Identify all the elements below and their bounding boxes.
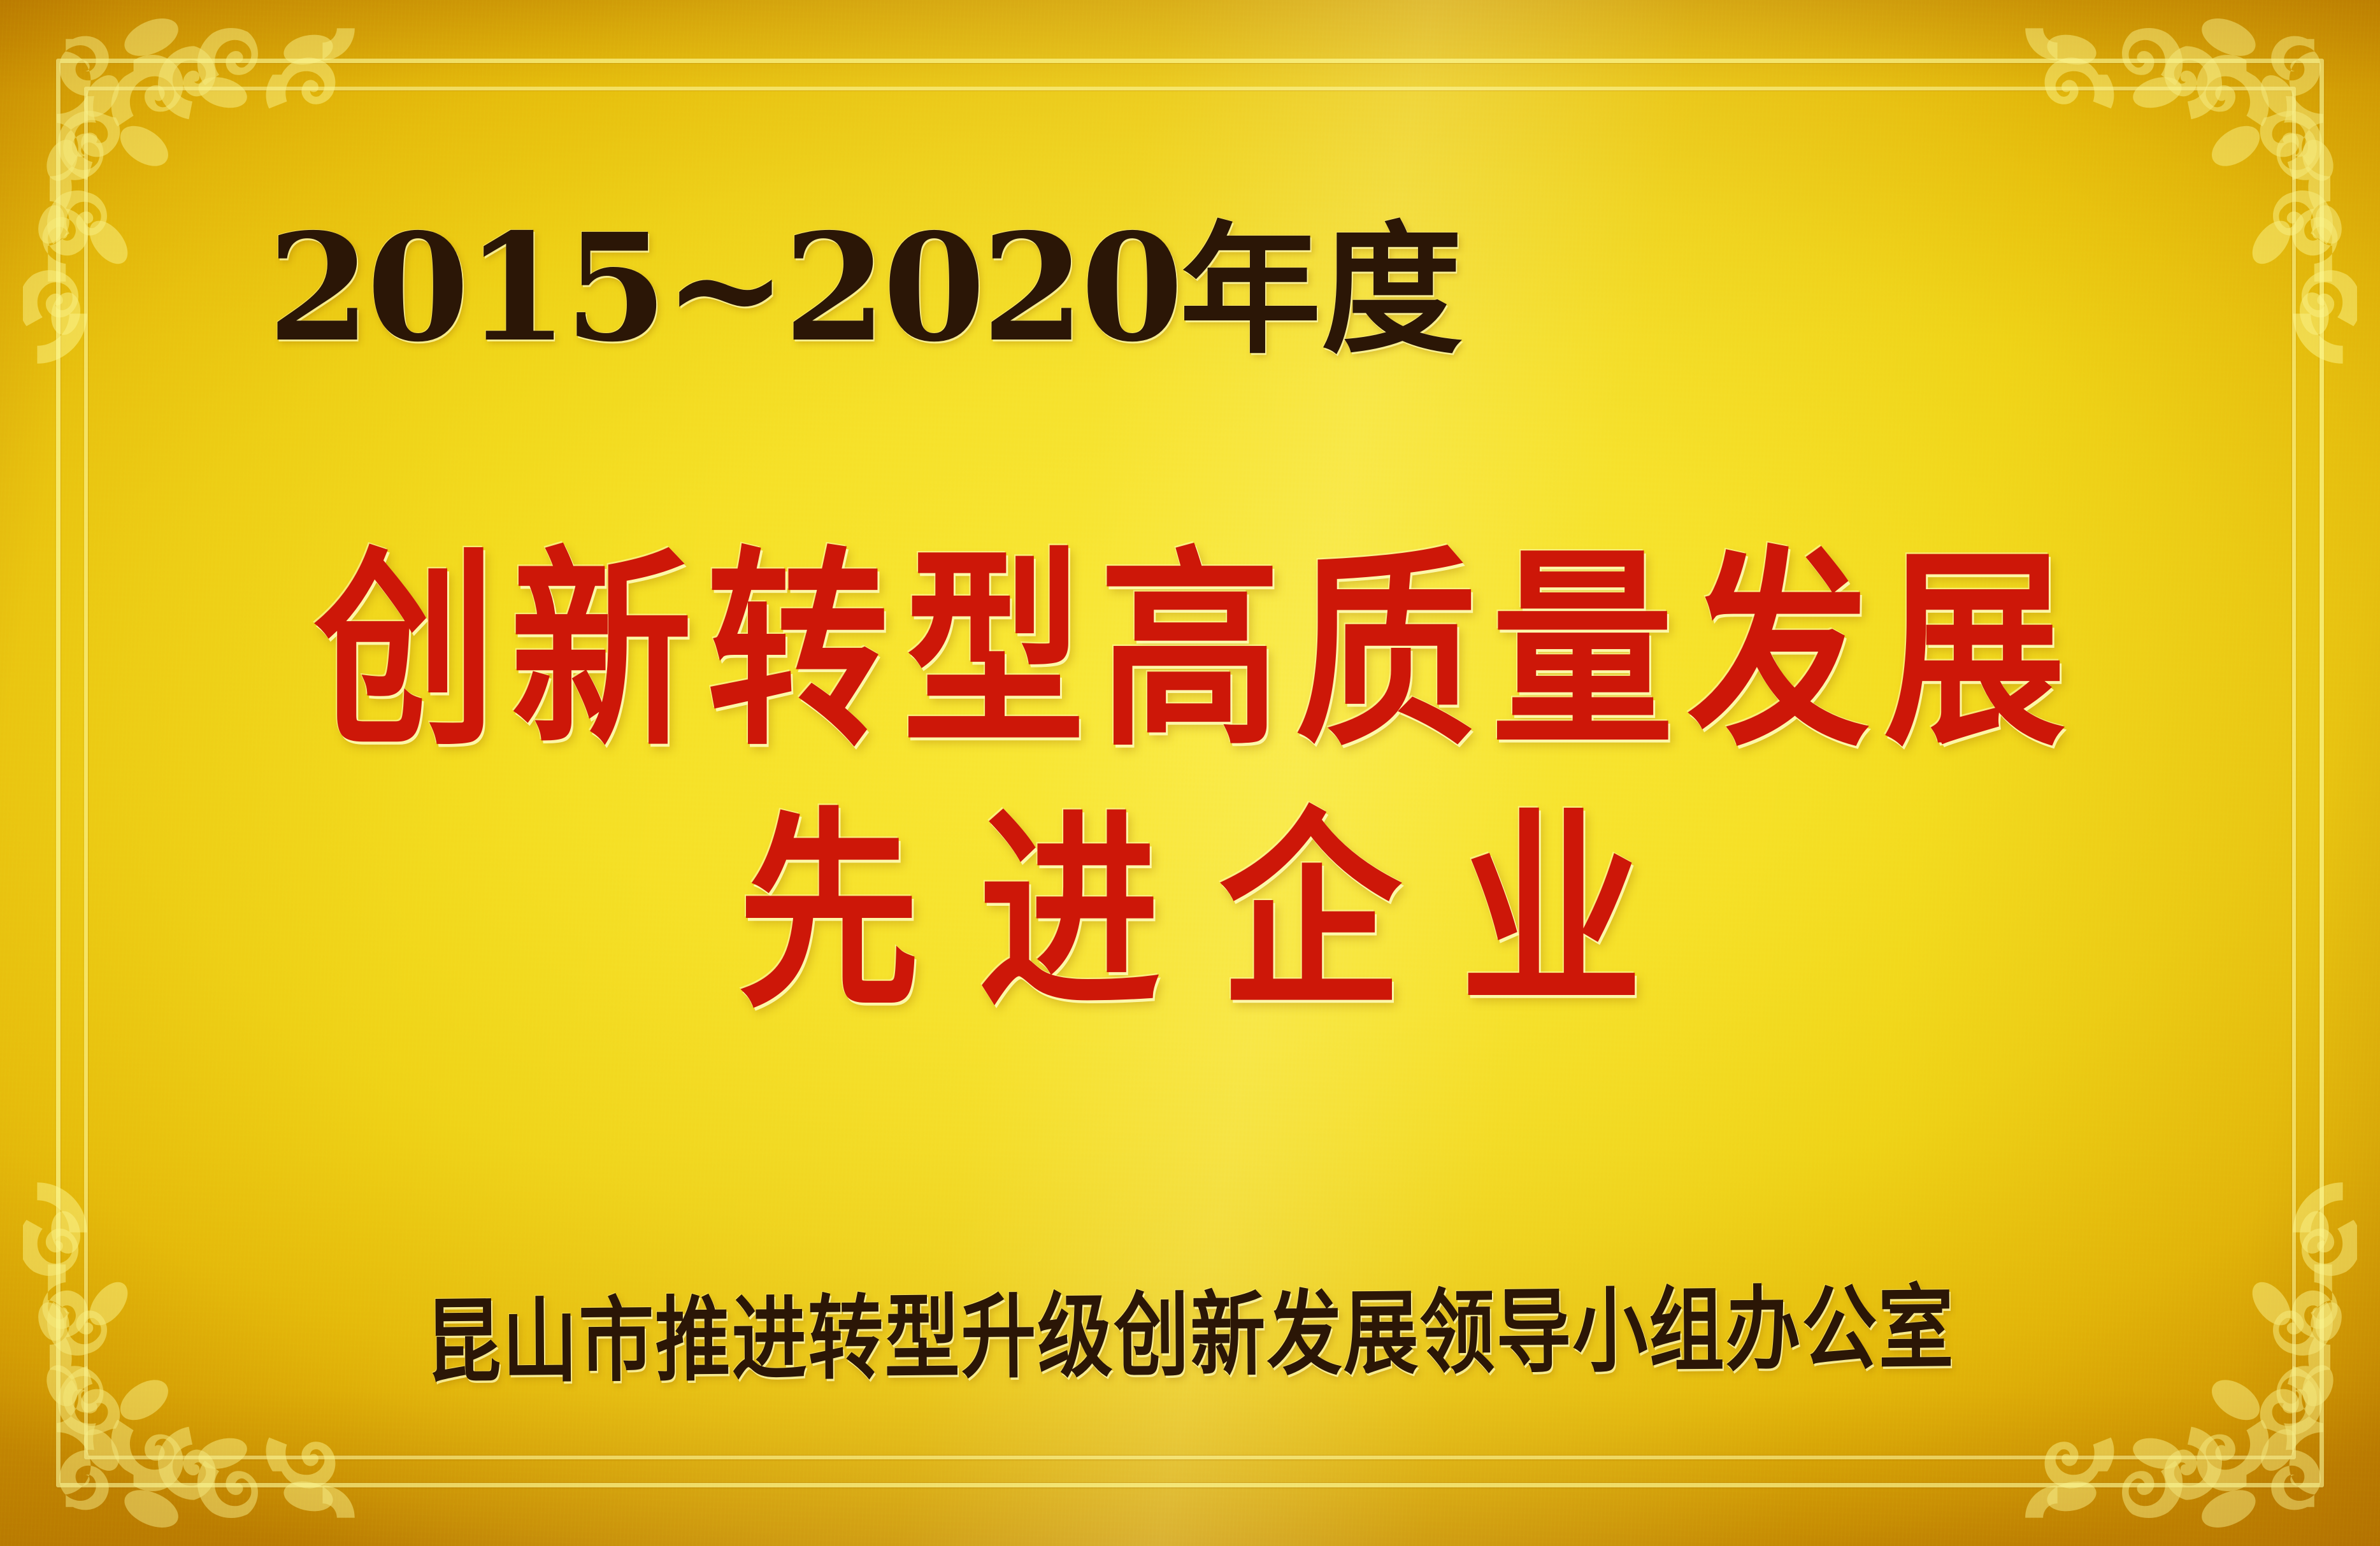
award-title-line-1: 创新转型高质量发展: [0, 547, 2380, 758]
award-period-unit: 年度: [1180, 209, 1463, 373]
award-plaque: 2015~2020年度 创新转型高质量发展 先进企业 昆山市推进转型升级创新发展…: [0, 0, 2380, 1546]
issuing-authority: 昆山市推进转型升级创新发展领导小组办公室: [0, 1278, 2380, 1392]
award-period-range: 2015~2020: [268, 201, 1180, 375]
award-title-line-2: 先进企业: [0, 808, 2380, 1019]
award-period: 2015~2020年度: [268, 214, 1463, 362]
plaque-text-layer: 2015~2020年度 创新转型高质量发展 先进企业 昆山市推进转型升级创新发展…: [0, 0, 2380, 1546]
